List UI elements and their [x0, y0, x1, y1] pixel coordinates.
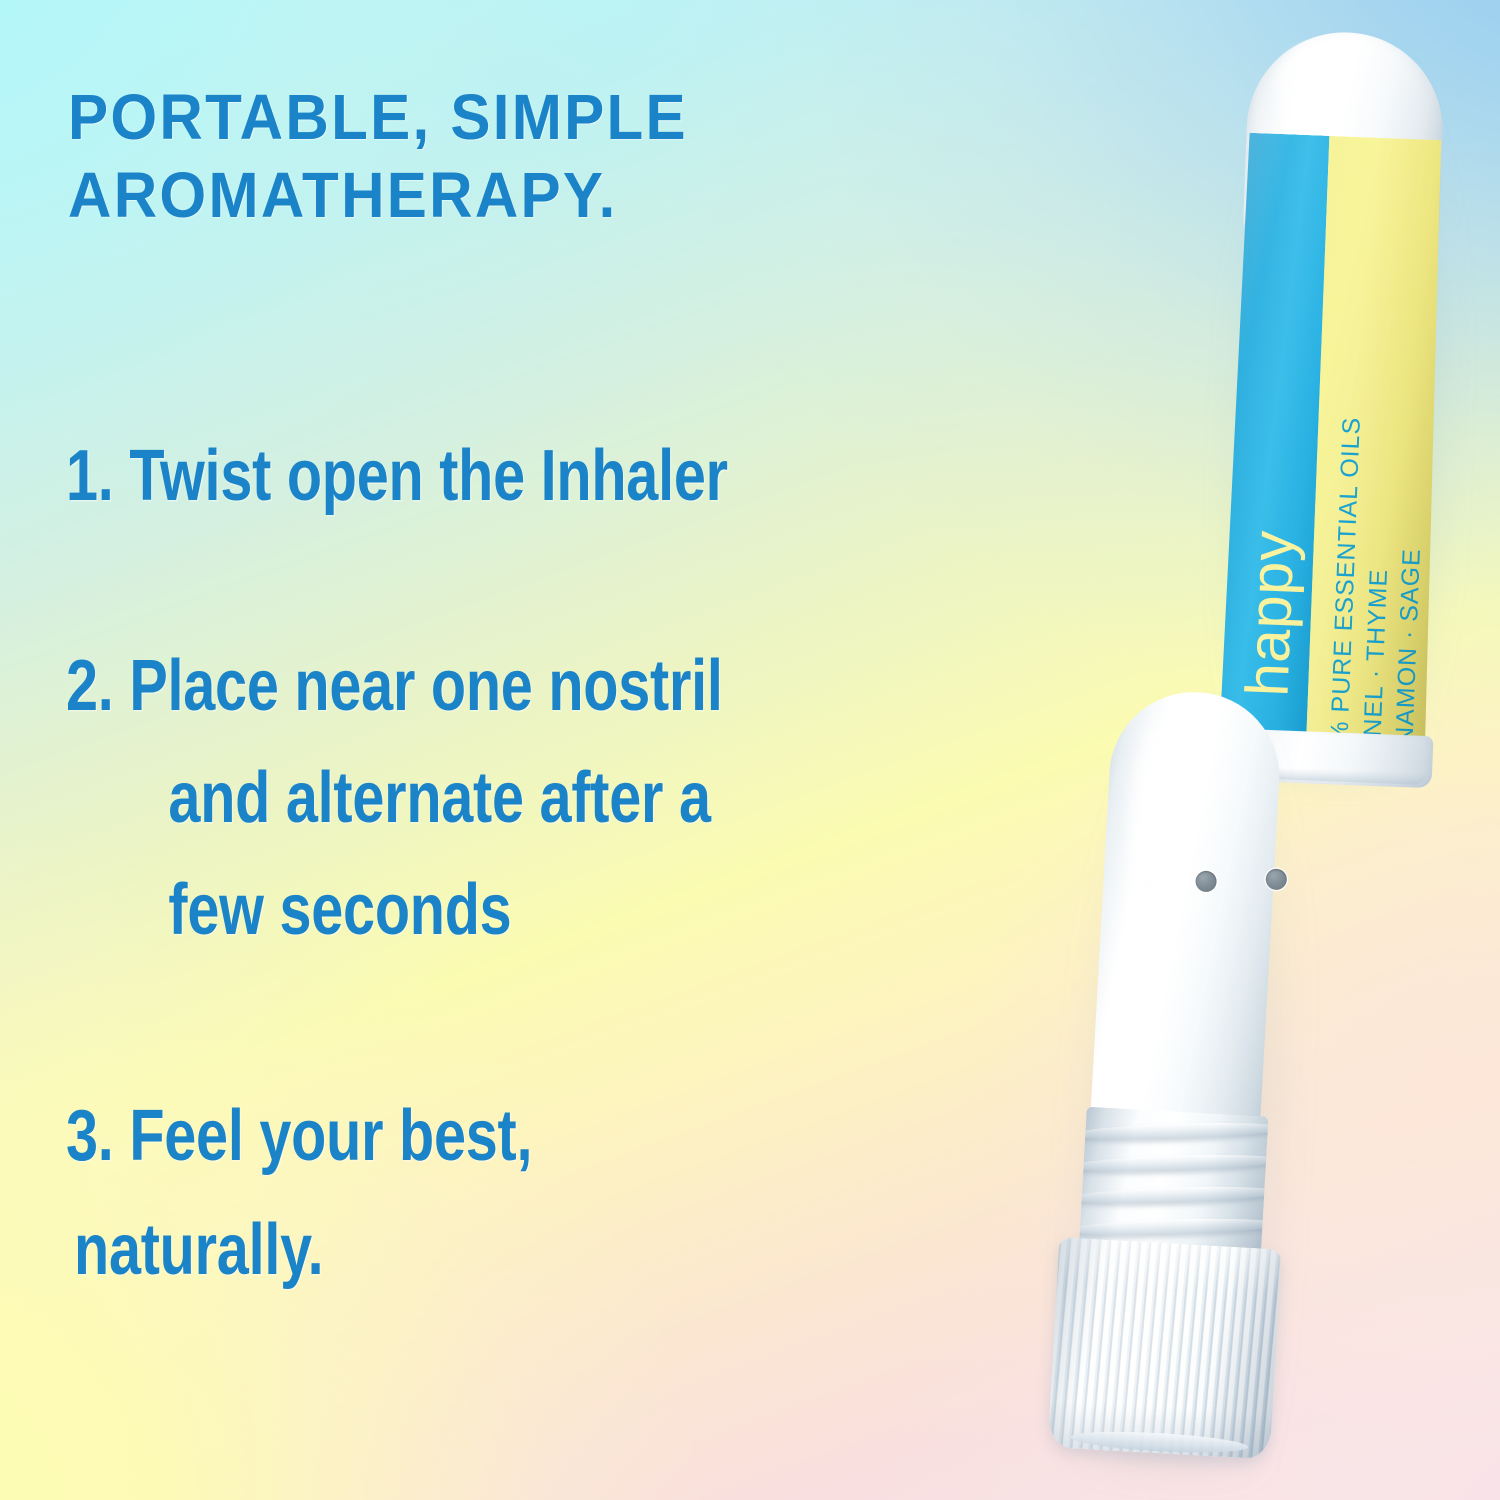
step-3-line-2: naturally.	[66, 1214, 532, 1286]
copy-block: Portable, simple Aromatherapy. 1. Twist …	[0, 0, 1100, 1500]
inhaler-label-barrel: happy 100% Pure Essential Oils Fennel · …	[1219, 132, 1449, 757]
step-1-line-1: 1. Twist open the Inhaler	[66, 440, 728, 512]
step-item-1: 1. Twist open the Inhaler	[66, 440, 728, 512]
step-3-line-1: 3. Feel your best,	[66, 1100, 532, 1172]
step-item-2: 2. Place near one nostril and alternate …	[66, 650, 723, 946]
step-2-line-2: and alternate after a	[66, 762, 723, 834]
product-inhaler-open	[1028, 685, 1362, 1490]
inhaler-vent-hole-left-icon	[1195, 870, 1217, 892]
step-2-line-1: 2. Place near one nostril	[66, 650, 723, 722]
cap-shading	[1048, 1237, 1281, 1459]
label-brand-word: happy	[1232, 375, 1313, 701]
step-2-line-3: few seconds	[66, 874, 723, 946]
product-feature-image: Portable, simple Aromatherapy. 1. Twist …	[0, 0, 1500, 1500]
headline: Portable, simple Aromatherapy.	[68, 78, 914, 234]
inhaler-stick-body	[1087, 687, 1284, 1176]
label-ingredients: 100% Pure Essential Oils Fennel · Thyme …	[1322, 218, 1441, 758]
headline-line-2: Aromatherapy.	[68, 156, 914, 234]
step-item-3: 3. Feel your best, naturally.	[66, 1100, 532, 1286]
product-inhaler-capped: happy 100% Pure Essential Oils Fennel · …	[1208, 28, 1464, 776]
headline-line-1: Portable, simple	[68, 81, 688, 153]
inhaler-ribbed-base-cap	[1048, 1237, 1281, 1459]
